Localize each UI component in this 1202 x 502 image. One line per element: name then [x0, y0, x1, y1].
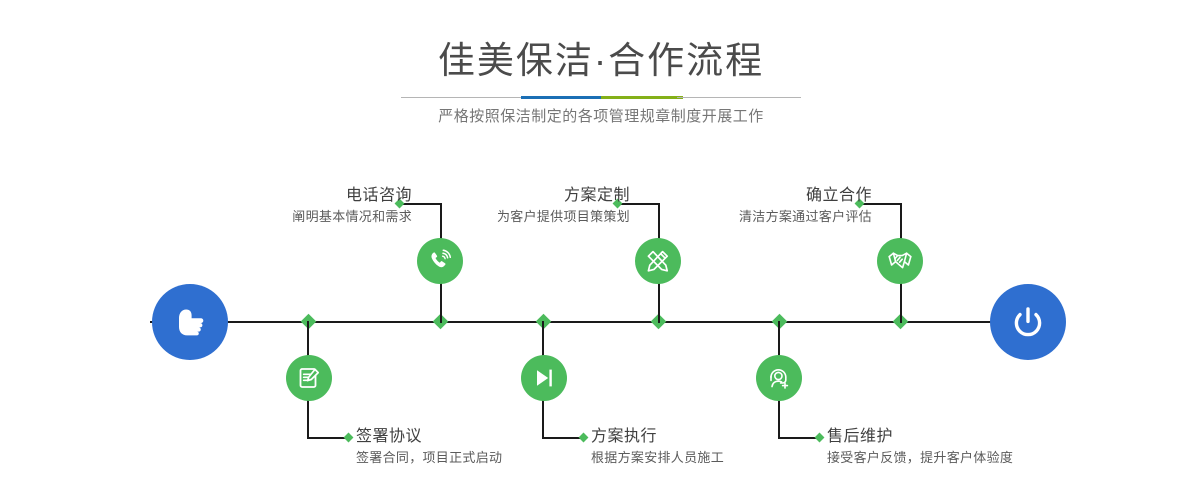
- step-desc-5: 清洁方案通过客户评估: [739, 207, 872, 227]
- connector-h-step-6: [778, 437, 819, 439]
- step-label-1: 电话咨询 阐明基本情况和需求: [292, 185, 412, 227]
- timeline-axis: [150, 321, 1052, 323]
- phone-call-icon: [426, 247, 454, 275]
- step-desc-2: 签署合同，项目正式启动: [356, 448, 502, 468]
- step-icon-play-execute[interactable]: [521, 355, 567, 401]
- customer-service-icon: [765, 364, 793, 392]
- pointing-hand-icon: [167, 299, 213, 345]
- step-title-4: 方案执行: [591, 426, 724, 448]
- step-icon-pencil-ruler[interactable]: [635, 238, 681, 284]
- label-node-step-6: [815, 433, 825, 443]
- step-title-2: 签署协议: [356, 426, 502, 448]
- play-execute-icon: [530, 364, 558, 392]
- step-title-5: 确立合作: [739, 185, 872, 207]
- timeline-end-node[interactable]: [990, 284, 1066, 360]
- step-icon-handshake[interactable]: [877, 238, 923, 284]
- step-icon-document-sign[interactable]: [286, 355, 332, 401]
- step-title-1: 电话咨询: [292, 185, 412, 207]
- step-icon-phone-call[interactable]: [417, 238, 463, 284]
- step-label-2: 签署协议 签署合同，项目正式启动: [356, 426, 502, 468]
- connector-h-step-2: [307, 437, 348, 439]
- flowchart-page: 佳美保洁·合作流程 严格按照保洁制定的各项管理规章制度开展工作: [0, 0, 1202, 502]
- step-desc-6: 接受客户反馈，提升客户体验度: [827, 448, 1013, 468]
- step-label-3: 方案定制 为客户提供项目策策划: [497, 185, 630, 227]
- step-title-6: 售后维护: [827, 426, 1013, 448]
- step-icon-customer-service[interactable]: [756, 355, 802, 401]
- timeline-start-node[interactable]: [152, 284, 228, 360]
- step-desc-1: 阐明基本情况和需求: [292, 207, 412, 227]
- step-label-4: 方案执行 根据方案安排人员施工: [591, 426, 724, 468]
- step-desc-4: 根据方案安排人员施工: [591, 448, 724, 468]
- step-label-6: 售后维护 接受客户反馈，提升客户体验度: [827, 426, 1013, 468]
- connector-h-step-4: [542, 437, 583, 439]
- power-icon: [1005, 299, 1051, 345]
- label-node-step-2: [344, 433, 354, 443]
- pencil-ruler-icon: [644, 247, 672, 275]
- handshake-icon: [886, 247, 914, 275]
- label-node-step-4: [579, 433, 589, 443]
- step-desc-3: 为客户提供项目策策划: [497, 207, 630, 227]
- process-timeline: 电话咨询 阐明基本情况和需求 签署协议 签署合同，项目正式启动: [0, 0, 1202, 502]
- document-sign-icon: [295, 364, 323, 392]
- step-title-3: 方案定制: [497, 185, 630, 207]
- step-label-5: 确立合作 清洁方案通过客户评估: [739, 185, 872, 227]
